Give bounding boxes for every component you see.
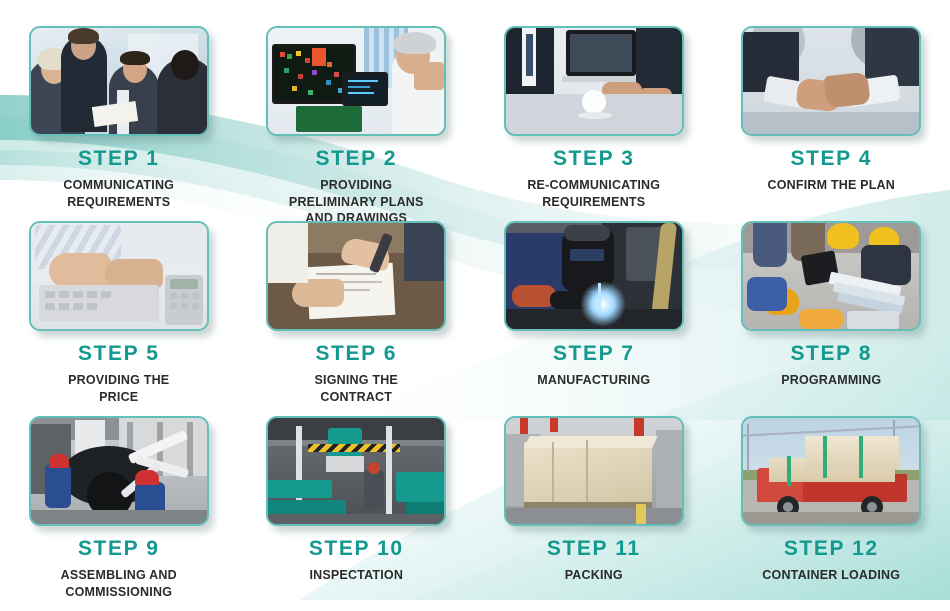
step-number: STEP 12: [784, 538, 879, 559]
step-number: STEP 4: [790, 148, 872, 169]
contract-signing-photo: [266, 221, 446, 331]
step-card-9[interactable]: STEP 9 ASSEMBLING AND COMMISSIONING: [0, 416, 238, 611]
step-number: STEP 2: [315, 148, 397, 169]
step-description: RE-COMMUNICATING REQUIREMENTS: [527, 177, 660, 210]
step-number: STEP 3: [553, 148, 635, 169]
step-card-5[interactable]: STEP 5 PROVIDING THE PRICE: [0, 221, 238, 416]
steps-grid: STEP 1 COMMUNICATING REQUIREMENTS: [0, 0, 950, 600]
step-card-2[interactable]: STEP 2 PROVIDING PRELIMINARY PLANS AND D…: [238, 26, 476, 221]
step-card-1[interactable]: STEP 1 COMMUNICATING REQUIREMENTS: [0, 26, 238, 221]
engineer-at-monitors-photo: [266, 26, 446, 136]
step-description: PACKING: [565, 567, 623, 584]
step-card-12[interactable]: STEP 12 CONTAINER LOADING: [713, 416, 950, 611]
step-description: CONTAINER LOADING: [762, 567, 900, 584]
step-description: COMMUNICATING REQUIREMENTS: [63, 177, 174, 210]
step-description: SIGNING THE CONTRACT: [315, 372, 398, 405]
step-description: PROGRAMMING: [781, 372, 881, 389]
step-description: MANUFACTURING: [537, 372, 650, 389]
loaded-truck-photo: [741, 416, 921, 526]
step-card-8[interactable]: STEP 8 PROGRAMMING: [713, 221, 950, 416]
factory-line-photo: [266, 416, 446, 526]
laptop-discussion-photo: [504, 26, 684, 136]
step-number: STEP 9: [78, 538, 160, 559]
site-workers-with-plans-photo: [741, 221, 921, 331]
welder-photo: [504, 221, 684, 331]
step-card-11[interactable]: STEP 11 PACKING: [475, 416, 713, 611]
step-number: STEP 5: [78, 343, 160, 364]
step-description: INSPECTATION: [309, 567, 403, 584]
step-description: ASSEMBLING AND COMMISSIONING: [61, 567, 177, 600]
step-description: PROVIDING THE PRICE: [68, 372, 169, 405]
step-card-10[interactable]: STEP 10 INSPECTATION: [238, 416, 476, 611]
step-number: STEP 10: [309, 538, 404, 559]
step-number: STEP 8: [790, 343, 872, 364]
business-meeting-photo: [29, 26, 209, 136]
wooden-crate-photo: [504, 416, 684, 526]
handshake-photo: [741, 26, 921, 136]
step-description: PROVIDING PRELIMINARY PLANS AND DRAWINGS: [289, 177, 424, 227]
step-card-6[interactable]: STEP 6 SIGNING THE CONTRACT: [238, 221, 476, 416]
hands-on-keyboard-calculator-photo: [29, 221, 209, 331]
step-description: CONFIRM THE PLAN: [768, 177, 896, 194]
assembly-workers-photo: [29, 416, 209, 526]
step-card-3[interactable]: STEP 3 RE-COMMUNICATING REQUIREMENTS: [475, 26, 713, 221]
step-card-7[interactable]: STEP 7 MANUFACTURING: [475, 221, 713, 416]
step-number: STEP 1: [78, 148, 160, 169]
step-number: STEP 11: [547, 538, 641, 559]
step-number: STEP 6: [315, 343, 397, 364]
step-card-4[interactable]: STEP 4 CONFIRM THE PLAN: [713, 26, 950, 221]
step-number: STEP 7: [553, 343, 635, 364]
